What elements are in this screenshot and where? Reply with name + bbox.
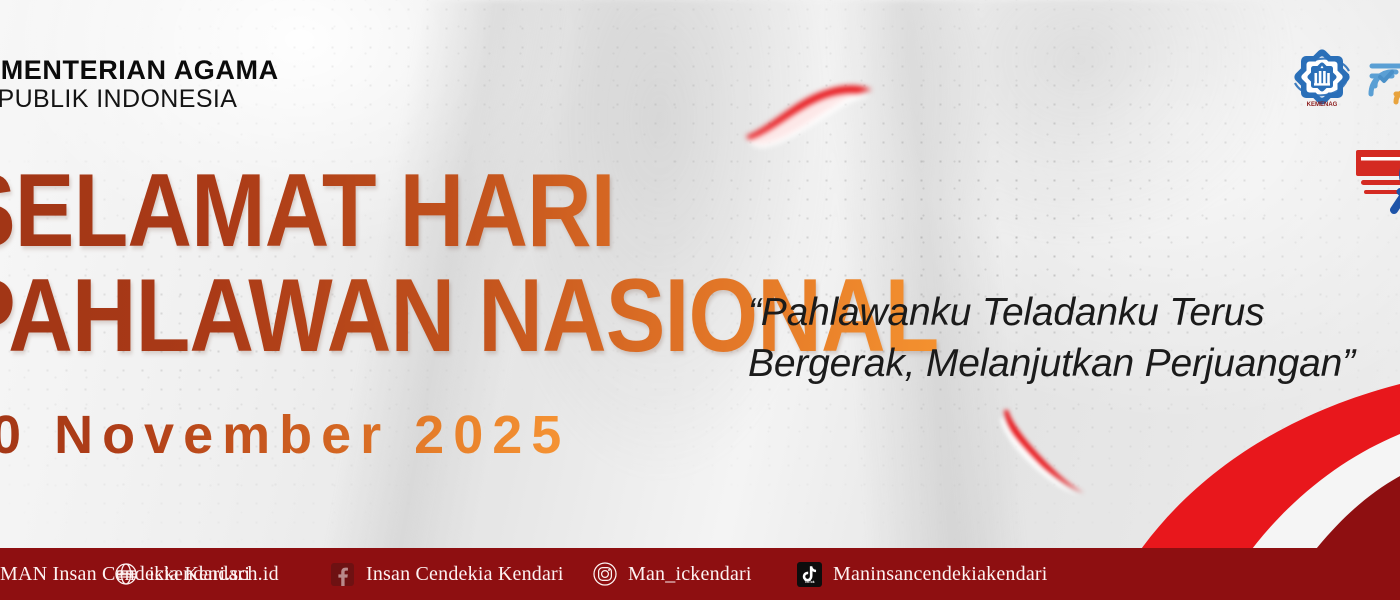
event-date: 10 November 2025 bbox=[0, 404, 570, 466]
footer-label-facebook: Insan Cendekia Kendari bbox=[366, 563, 564, 586]
ministry-lockup: KEMENTERIAN AGAMA REPUBLIK INDONESIA bbox=[0, 56, 279, 112]
footer-item-tiktok[interactable]: TikTok Maninsancendekiakendari bbox=[797, 562, 1048, 587]
theme-quote: “Pahlawanku Teladanku Terus Bergerak, Me… bbox=[748, 288, 1400, 389]
headline-line-1: SELAMAT HARI bbox=[0, 163, 938, 260]
red-white-flag-ribbon-icon bbox=[988, 398, 1098, 508]
kemenag-star-emblem-icon: KEMENAG bbox=[1292, 48, 1352, 115]
red-flag-ribbon-icon bbox=[742, 70, 882, 150]
instagram-icon bbox=[592, 562, 617, 587]
tiktok-icon: TikTok bbox=[797, 562, 822, 587]
logo-row: KEMENAG K B bbox=[1292, 48, 1400, 115]
ministry-line-1: KEMENTERIAN AGAMA bbox=[0, 56, 279, 84]
footer-item-website[interactable]: www ickendari.sch.id bbox=[113, 562, 279, 587]
svg-text:www: www bbox=[118, 572, 132, 578]
ministry-line-2: REPUBLIK INDONESIA bbox=[0, 86, 279, 112]
footer-label-instagram: Man_ickendari bbox=[628, 563, 752, 586]
kbbi-blue-orange-icon: K B bbox=[1366, 50, 1400, 113]
footer-item-instagram[interactable]: Man_ickendari bbox=[592, 562, 752, 587]
quote-line-1: “Pahlawanku Teladanku Terus bbox=[748, 291, 1264, 334]
quote-line-2: Bergerak, Melanjutkan Perjuangan” bbox=[748, 339, 1400, 390]
hari-pahlawan-banner: KEMENTERIAN AGAMA REPUBLIK INDONESIA SEL… bbox=[0, 0, 1400, 600]
footer-label-tiktok: Maninsancendekiakendari bbox=[833, 563, 1048, 586]
kemenag-logo-caption: KEMENAG bbox=[1307, 102, 1338, 108]
svg-text:TikTok: TikTok bbox=[805, 580, 815, 584]
facebook-icon bbox=[330, 562, 355, 587]
red-flag-blue-mark-icon bbox=[1334, 140, 1400, 231]
footer-item-facebook[interactable]: Insan Cendekia Kendari bbox=[330, 562, 564, 587]
globe-www-icon: www bbox=[113, 562, 138, 587]
footer-label-website: ickendari.sch.id bbox=[149, 563, 279, 586]
contact-footer-bar: MAN Insan Cendekia Kendari www ickendari… bbox=[0, 548, 1400, 600]
